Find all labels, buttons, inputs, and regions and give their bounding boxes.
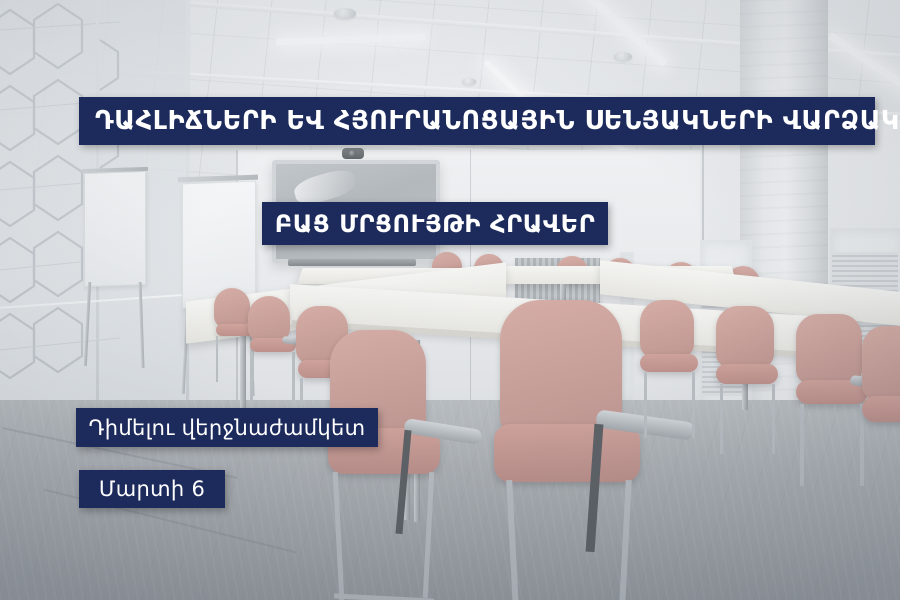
headline-banner: ԴԱՀԼԻՃՆԵՐԻ ԵՎ ՀՅՈՒՐԱՆՈՑԱՅԻՆ ՍԵՆՅԱԿՆԵՐԻ Վ… (79, 97, 875, 145)
flipchart-paper (84, 171, 146, 287)
deadline-label-text: Դիմելու վերջնաժամկետ (89, 416, 366, 440)
headline-text: ԴԱՀԼԻՃՆԵՐԻ ԵՎ ՀՅՈՒՐԱՆՈՑԱՅԻՆ ՍԵՆՅԱԿՆԵՐԻ Վ… (95, 106, 900, 136)
background-photo (0, 0, 900, 600)
deadline-date-text: Մարտի 6 (99, 477, 205, 501)
poster-canvas: ԴԱՀԼԻՃՆԵՐԻ ԵՎ ՀՅՈՒՐԱՆՈՑԱՅԻՆ ՍԵՆՅԱԿՆԵՐԻ Վ… (0, 0, 900, 600)
ceiling-speaker (334, 8, 356, 19)
ceiling-sensor (462, 78, 476, 85)
flipchart-paper (182, 181, 256, 310)
deadline-label-banner: Դիմելու վերջնաժամկետ (76, 408, 378, 447)
subhead-banner: ԲԱՑ ՄՐՑՈՒՅԹԻ ՀՐԱՎԵՐ (262, 202, 608, 245)
subhead-text: ԲԱՑ ՄՐՑՈՒՅԹԻ ՀՐԱՎԵՐ (275, 210, 596, 238)
soundbar (288, 259, 416, 266)
ceiling-sensor (614, 52, 632, 61)
deadline-date-badge: Մարտի 6 (79, 470, 225, 508)
camera-lens-icon (349, 150, 356, 157)
